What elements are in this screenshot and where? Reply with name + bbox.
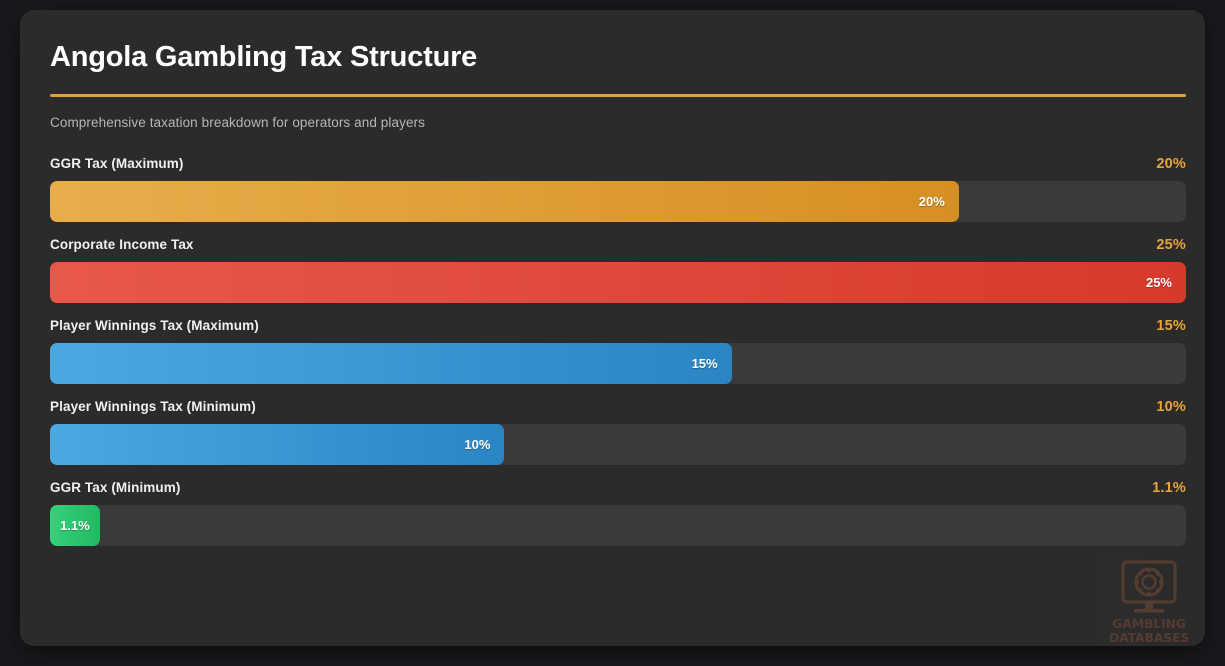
tax-bar-row: GGR Tax (Minimum)1.1%1.1% [50,480,1186,546]
tax-bar-fill: 15% [50,343,732,384]
tax-bar-header: GGR Tax (Maximum)20% [50,156,1186,172]
tax-bar-fill: 10% [50,424,504,465]
tax-bar-header: GGR Tax (Minimum)1.1% [50,480,1186,496]
tax-bar-inline-value: 15% [692,356,732,371]
tax-bar-label: GGR Tax (Minimum) [50,480,180,495]
title-divider [50,94,1186,97]
tax-structure-card: Angola Gambling Tax Structure Comprehens… [20,10,1205,646]
tax-bar-track: 20% [50,181,1186,222]
tax-bar-value: 10% [1156,399,1186,415]
tax-bar-inline-value: 10% [464,437,504,452]
tax-bar-fill: 25% [50,262,1186,303]
tax-bar-label: Player Winnings Tax (Minimum) [50,399,256,414]
tax-bar-inline-value: 20% [919,194,959,209]
page-subtitle: Comprehensive taxation breakdown for ope… [50,115,1186,130]
tax-bar-value: 1.1% [1152,480,1186,496]
tax-bar-row: Player Winnings Tax (Maximum)15%15% [50,318,1186,384]
tax-bar-track: 15% [50,343,1186,384]
tax-bar-label: Player Winnings Tax (Maximum) [50,318,259,333]
tax-bar-row: GGR Tax (Maximum)20%20% [50,156,1186,222]
tax-bar-label: GGR Tax (Maximum) [50,156,183,171]
tax-bar-row: Player Winnings Tax (Minimum)10%10% [50,399,1186,465]
card-content: Angola Gambling Tax Structure Comprehens… [50,40,1186,546]
watermark-line-2: DATABASES [1101,631,1197,645]
tax-bar-label: Corporate Income Tax [50,237,194,252]
tax-bar-value: 20% [1156,156,1186,172]
tax-bar-header: Corporate Income Tax25% [50,237,1186,253]
tax-bar-value: 25% [1156,237,1186,253]
watermark-text: GAMBLING DATABASES [1101,617,1197,644]
tax-bar-track: 25% [50,262,1186,303]
tax-bar-header: Player Winnings Tax (Maximum)15% [50,318,1186,334]
tax-bar-header: Player Winnings Tax (Minimum)10% [50,399,1186,415]
watermark: GAMBLING DATABASES [1101,554,1197,646]
watermark-backdrop [1101,554,1197,646]
tax-bar-value: 15% [1156,318,1186,334]
monitor-poker-chip-icon [1101,554,1197,624]
tax-bar-fill: 20% [50,181,959,222]
page-root: Angola Gambling Tax Structure Comprehens… [0,0,1225,666]
tax-bar-list: GGR Tax (Maximum)20%20%Corporate Income … [50,156,1186,546]
tax-bar-track: 1.1% [50,505,1186,546]
tax-bar-track: 10% [50,424,1186,465]
tax-bar-inline-value: 25% [1146,275,1186,290]
tax-bar-row: Corporate Income Tax25%25% [50,237,1186,303]
tax-bar-inline-value: 1.1% [50,518,90,533]
watermark-line-1: GAMBLING [1101,617,1197,631]
tax-bar-fill: 1.1% [50,505,100,546]
page-title: Angola Gambling Tax Structure [50,40,1186,75]
